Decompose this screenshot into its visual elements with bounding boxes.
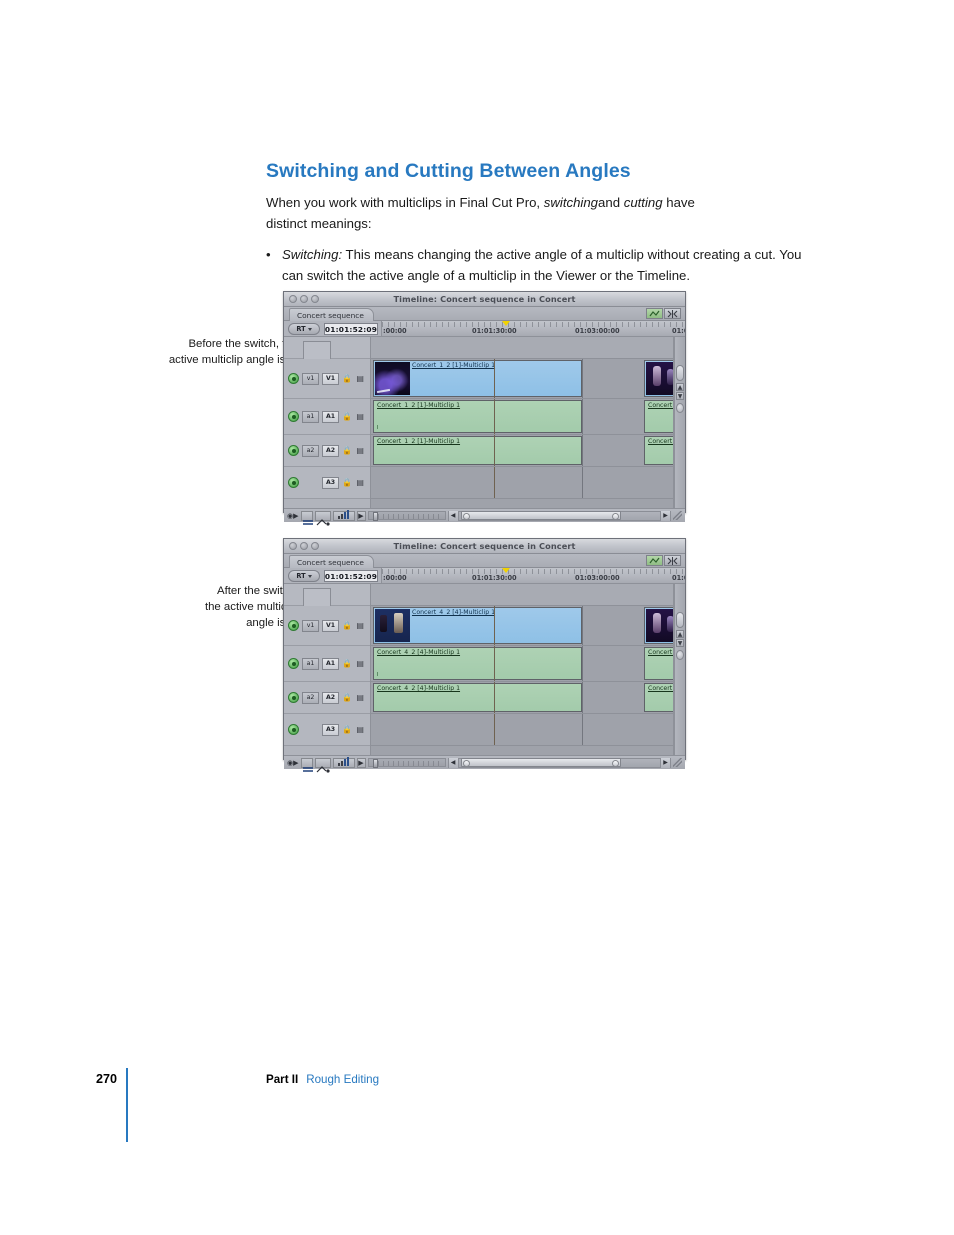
track-header-a1[interactable]: a1 A1 🔒 ▤ — [284, 646, 370, 682]
bullet-text: This means changing the active angle of … — [282, 247, 802, 283]
zoom-slider-ticks — [373, 514, 441, 519]
timeline-body: v1 V1 🔒 ▤ a1 A1 🔒 ▤ a2 A2 🔒 — [284, 584, 685, 755]
edit-point-line — [582, 714, 583, 745]
clip-label: Concert_1_2 [1]-Multiclip 1 — [377, 402, 460, 409]
scroll-right-icon[interactable]: ▶ — [660, 758, 670, 768]
bullet-term: Switching: — [282, 247, 342, 262]
dest-target-a1[interactable]: A1 — [322, 658, 339, 670]
clip-a1-multiclip[interactable]: Concert_4_2 [4]-Multiclip 1 — [373, 647, 582, 680]
track-canvas[interactable]: Concert_1_2 [1]-Multiclip 1 Concert_1_2 … — [371, 337, 674, 508]
clip-label: Concert_4_2 [4]-Multiclip 1 — [377, 685, 460, 692]
playhead-marker-icon[interactable] — [502, 321, 510, 326]
toggle-arrow-icon[interactable]: ▶ — [357, 511, 366, 521]
auto-select-icon-v1[interactable]: ▤ — [355, 373, 365, 384]
clip-thumbnail — [646, 609, 674, 642]
timeline-window-after[interactable]: Timeline: Concert sequence in Concert Co… — [283, 538, 686, 760]
ruler-label-2: 01:03:00:00 — [575, 574, 620, 582]
intro-paragraph: When you work with multiclips in Final C… — [266, 192, 814, 235]
playhead-line[interactable] — [494, 606, 495, 645]
auto-select-icon-a3[interactable]: ▤ — [355, 724, 365, 735]
auto-select-icon-a2[interactable]: ▤ — [355, 445, 365, 456]
playhead-line[interactable] — [494, 399, 495, 434]
rt-label: RT — [296, 572, 305, 580]
ruler-label-3: 01:0 — [672, 574, 685, 582]
scroll-down-icon[interactable]: ▼ — [676, 392, 684, 400]
track-enable-a3-icon[interactable] — [288, 477, 299, 488]
source-target-a2[interactable]: a2 — [302, 692, 319, 704]
hscroll-grip-right[interactable] — [612, 513, 619, 520]
clip-keyframes-icon[interactable] — [315, 758, 331, 768]
intro-text-c: have — [666, 195, 695, 210]
scroll-left-icon[interactable]: ◀ — [449, 758, 459, 768]
source-target-v1[interactable]: v1 — [302, 373, 319, 385]
track-header-a3[interactable]: A3 🔒 ▤ — [284, 467, 370, 499]
playhead-line[interactable] — [494, 682, 495, 713]
selection-outline — [303, 341, 331, 359]
zoom-slider[interactable] — [368, 758, 446, 767]
clip-label: Concert_4_2 [4]-Multiclip 1 — [377, 649, 460, 656]
clip-v1-next[interactable] — [644, 607, 674, 644]
lane-empty — [371, 499, 673, 508]
clip-label: Concert_1_2 [1]-Multiclip 1 — [377, 438, 460, 445]
source-target-a3[interactable] — [302, 724, 319, 736]
edit-point-line — [582, 359, 583, 398]
zoom-slider-knob[interactable] — [373, 512, 378, 521]
lane-a3[interactable] — [371, 467, 673, 499]
clip-a2-next[interactable]: Concert_1_... — [644, 436, 674, 465]
rt-popup-button[interactable]: RT — [288, 570, 320, 582]
clip-v1-multiclip[interactable]: Concert_1_2 [1]-Multiclip 1 — [373, 360, 582, 397]
sequence-tab-bar[interactable]: Concert sequence — [284, 554, 685, 568]
track-header-a2[interactable]: a2 A2 🔒 ▤ — [284, 435, 370, 467]
clip-label: Concert_1_... — [648, 685, 674, 692]
lane-empty — [371, 746, 673, 755]
hscroll-grip-right[interactable] — [612, 760, 619, 767]
ruler-ticks — [382, 322, 685, 327]
intro-text-b: and — [598, 195, 620, 210]
window-title: Timeline: Concert sequence in Concert — [284, 541, 685, 551]
chevron-down-icon — [308, 575, 312, 578]
edit-point-line — [582, 399, 583, 434]
hscroll-grip-left[interactable] — [463, 760, 470, 767]
lane-a1[interactable]: Concert_4_2 [4]-Multiclip 1 Concert_1_..… — [371, 646, 673, 682]
clip-keyframes-icon[interactable] — [315, 511, 331, 521]
resize-grip-icon[interactable] — [673, 758, 682, 767]
dest-target-a3[interactable]: A3 — [322, 477, 339, 489]
rt-label: RT — [296, 325, 305, 333]
lane-v1[interactable]: Concert_4_2 [4]-Multiclip 1 — [371, 606, 673, 646]
track-enable-v1-icon[interactable] — [288, 373, 299, 384]
playhead-line[interactable] — [494, 714, 495, 745]
track-header-a1[interactable]: a1 A1 🔒 ▤ — [284, 399, 370, 435]
clip-label: Concert_4_2 [4]-Multiclip 1 — [412, 609, 495, 616]
timeline-controls-row[interactable]: RT 01:01:52:09 :00:00 01:01:30:00 01:03:… — [284, 321, 685, 337]
playhead-marker-icon[interactable] — [502, 568, 510, 573]
lane-a1[interactable]: Concert_1_2 [1]-Multiclip 1 Concert_1_..… — [371, 399, 673, 435]
playhead-line[interactable] — [494, 467, 495, 498]
playhead-line[interactable] — [494, 646, 495, 681]
bullet-list: • Switching: This means changing the act… — [266, 244, 814, 287]
canvas-spacer — [371, 337, 673, 359]
page: Switching and Cutting Between Angles Whe… — [0, 0, 954, 1235]
current-timecode-field[interactable]: 01:01:52:09 — [324, 323, 378, 335]
audio-waveform-icon — [377, 672, 391, 676]
track-enable-a2-icon[interactable] — [288, 445, 299, 456]
timeline-body: v1 V1 🔒 ▤ a1 A1 🔒 ▤ a2 A2 🔒 — [284, 337, 685, 508]
intro-text-a: When you work with multiclips in Final C… — [266, 195, 540, 210]
lock-icon-v1[interactable]: 🔒 — [342, 620, 352, 631]
hscroll-thumb[interactable] — [461, 511, 621, 520]
scroll-left-icon[interactable]: ◀ — [449, 511, 459, 521]
timeline-controls-row[interactable]: RT 01:01:52:09 :00:00 01:01:30:00 01:03:… — [284, 568, 685, 584]
track-header-a2[interactable]: a2 A2 🔒 ▤ — [284, 682, 370, 714]
audio-waveform-icon — [377, 425, 391, 429]
linked-selection-icon[interactable] — [646, 308, 663, 319]
callout-before-line1: Before the switch, the — [188, 338, 298, 350]
dest-target-a2[interactable]: A2 — [322, 445, 339, 457]
zoom-slider[interactable] — [368, 511, 446, 520]
clip-a2-next[interactable]: Concert_1_... — [644, 683, 674, 712]
th-bar-1 — [338, 516, 340, 519]
audio-meter-icon[interactable]: ◉▶ — [287, 511, 299, 521]
clip-v1-multiclip[interactable]: Concert_4_2 [4]-Multiclip 1 — [373, 607, 582, 644]
clip-a1-multiclip[interactable]: Concert_1_2 [1]-Multiclip 1 — [373, 400, 582, 433]
horizontal-scrollbar[interactable]: ◀ ▶ — [448, 511, 672, 521]
timeline-toggle-buttons[interactable] — [646, 308, 681, 319]
list-item: • Switching: This means changing the act… — [266, 244, 814, 287]
clip-a1-next[interactable]: Concert_1_... — [644, 400, 674, 433]
dest-target-a2[interactable]: A2 — [322, 692, 339, 704]
window-titlebar[interactable]: Timeline: Concert sequence in Concert — [284, 539, 685, 554]
ruler-label-1: 01:01:30:00 — [472, 327, 517, 335]
source-target-v1[interactable]: v1 — [302, 620, 319, 632]
auto-select-icon-a1[interactable]: ▤ — [355, 411, 365, 422]
lane-a2[interactable]: Concert_1_2 [1]-Multiclip 1 Concert_1_..… — [371, 435, 673, 467]
clip-v1-next[interactable] — [644, 360, 674, 397]
timeline-toggle-buttons[interactable] — [646, 555, 681, 566]
vertical-scrollbar[interactable]: ▲ ▼ — [674, 337, 685, 508]
scroll-down-icon[interactable]: ▼ — [676, 639, 684, 647]
window-titlebar[interactable]: Timeline: Concert sequence in Concert — [284, 292, 685, 307]
tab-concert-sequence[interactable]: Concert sequence — [289, 308, 374, 321]
clip-thumbnail — [375, 362, 410, 395]
audio-meter-icon[interactable]: ◉▶ — [287, 758, 299, 768]
zoom-slider-knob[interactable] — [373, 759, 378, 768]
lock-icon-a1[interactable]: 🔒 — [342, 411, 352, 422]
track-header-v1[interactable]: v1 V1 🔒 ▤ — [284, 359, 370, 399]
bullet-dot-icon: • — [266, 244, 271, 265]
edit-point-line — [582, 435, 583, 466]
sequence-tab-bar[interactable]: Concert sequence — [284, 307, 685, 321]
track-enable-a1-icon[interactable] — [288, 411, 299, 422]
zoom-control-icon[interactable] — [676, 650, 684, 660]
track-enable-v1-icon[interactable] — [288, 620, 299, 631]
snapping-icon[interactable] — [664, 308, 681, 319]
callout-before-switch: Before the switch, the active multiclip … — [104, 336, 298, 368]
canvas-spacer — [371, 584, 673, 606]
timeline-ruler[interactable]: :00:00 01:01:30:00 01:03:00:00 01:0 — [381, 321, 685, 336]
clip-label: Concert_1_... — [648, 402, 674, 409]
rt-popup-button[interactable]: RT — [288, 323, 320, 335]
callout-before-line2: active multiclip angle is 1. — [169, 354, 298, 366]
track-header-spacer — [284, 337, 370, 359]
edit-point-line — [582, 606, 583, 645]
th-bar-4 — [347, 757, 349, 766]
th-bar-2 — [341, 514, 343, 519]
timeline-ruler[interactable]: :00:00 01:01:30:00 01:03:00:00 01:0 — [381, 568, 685, 583]
lock-icon-v1[interactable]: 🔒 — [342, 373, 352, 384]
scroll-right-icon[interactable]: ▶ — [660, 511, 670, 521]
th-bar-4 — [347, 510, 349, 519]
edit-point-line — [582, 646, 583, 681]
timeline-footer-toolbar[interactable]: ◉▶ ▶ ◀ — [284, 755, 685, 769]
playhead-line[interactable] — [494, 435, 495, 466]
edit-point-line — [582, 682, 583, 713]
auto-select-icon-a3[interactable]: ▤ — [355, 477, 365, 488]
intro-line-2: distinct meanings: — [266, 216, 372, 231]
footer-chapter: Rough Editing — [306, 1073, 379, 1086]
scroll-up-icon[interactable]: ▲ — [676, 630, 684, 638]
document-body: Switching and Cutting Between Angles Whe… — [266, 160, 814, 287]
lock-icon-a2[interactable]: 🔒 — [342, 445, 352, 456]
ruler-ticks — [382, 569, 685, 574]
track-header-column[interactable]: v1 V1 🔒 ▤ a1 A1 🔒 ▤ a2 A2 🔒 — [284, 584, 371, 755]
ruler-label-0: :00:00 — [383, 327, 407, 335]
th-bar-2 — [341, 761, 343, 766]
scroll-up-icon[interactable]: ▲ — [676, 383, 684, 391]
track-canvas[interactable]: Concert_4_2 [4]-Multiclip 1 Concert_4_2 … — [371, 584, 674, 755]
timeline-window-before[interactable]: Timeline: Concert sequence in Concert Co… — [283, 291, 686, 513]
horizontal-scrollbar[interactable]: ◀ ▶ — [448, 758, 672, 768]
intro-italic-cutting: cutting — [624, 195, 663, 210]
lane-a2[interactable]: Concert_4_2 [4]-Multiclip 1 Concert_1_..… — [371, 682, 673, 714]
auto-select-icon-v1[interactable]: ▤ — [355, 620, 365, 631]
footer-divider — [126, 1068, 128, 1142]
clip-overlays-icon[interactable] — [301, 511, 313, 521]
clip-overlays-icon[interactable] — [301, 758, 313, 768]
th-bar-3 — [344, 759, 346, 766]
toggle-arrow-icon[interactable]: ▶ — [357, 758, 366, 768]
clip-a2-multiclip[interactable]: Concert_1_2 [1]-Multiclip 1 — [373, 436, 582, 465]
linked-selection-icon[interactable] — [646, 555, 663, 566]
intro-italic-switching: switching — [544, 195, 598, 210]
lock-icon-a3[interactable]: 🔒 — [342, 724, 352, 735]
clip-a1-next[interactable]: Concert_1_... — [644, 647, 674, 680]
edit-point-line — [582, 467, 583, 498]
clip-label: Concert_1_... — [648, 438, 674, 445]
th-bar-3 — [344, 512, 346, 519]
ruler-label-3: 01:0 — [672, 327, 685, 335]
lock-icon-a2[interactable]: 🔒 — [342, 692, 352, 703]
chevron-down-icon — [308, 328, 312, 331]
dest-target-a3[interactable]: A3 — [322, 724, 339, 736]
callout-after-switch: After the switch, the active multiclip a… — [124, 583, 298, 632]
track-height-icon[interactable] — [333, 758, 355, 768]
window-title: Timeline: Concert sequence in Concert — [284, 294, 685, 304]
vscroll-thumb[interactable] — [676, 612, 684, 628]
source-target-a1[interactable]: a1 — [302, 658, 319, 670]
current-timecode-field[interactable]: 01:01:52:09 — [324, 570, 378, 582]
track-enable-a3-icon[interactable] — [288, 724, 299, 735]
dest-target-a1[interactable]: A1 — [322, 411, 339, 423]
clip-a2-multiclip[interactable]: Concert_4_2 [4]-Multiclip 1 — [373, 683, 582, 712]
track-header-v1[interactable]: v1 V1 🔒 ▤ — [284, 606, 370, 646]
clip-thumbnail — [646, 362, 674, 395]
track-enable-a1-icon[interactable] — [288, 658, 299, 669]
dest-target-v1[interactable]: V1 — [322, 620, 339, 632]
zoom-slider-ticks — [373, 761, 441, 766]
vscroll-thumb[interactable] — [676, 365, 684, 381]
auto-select-icon-a2[interactable]: ▤ — [355, 692, 365, 703]
track-enable-a2-icon[interactable] — [288, 692, 299, 703]
playhead-line[interactable] — [494, 359, 495, 398]
track-header-spacer — [284, 584, 370, 606]
ruler-label-0: :00:00 — [383, 574, 407, 582]
vertical-scrollbar[interactable]: ▲ ▼ — [674, 584, 685, 755]
lock-icon-a1[interactable]: 🔒 — [342, 658, 352, 669]
source-target-a1[interactable]: a1 — [302, 411, 319, 423]
dest-target-v1[interactable]: V1 — [322, 373, 339, 385]
th-bar-1 — [338, 763, 340, 766]
resize-grip-icon[interactable] — [673, 511, 682, 520]
ruler-label-2: 01:03:00:00 — [575, 327, 620, 335]
track-header-a3[interactable]: A3 🔒 ▤ — [284, 714, 370, 746]
clip-label: Concert_1_... — [648, 649, 674, 656]
tab-concert-sequence[interactable]: Concert sequence — [289, 555, 374, 568]
snapping-icon[interactable] — [664, 555, 681, 566]
clip-thumbnail — [375, 609, 410, 642]
track-height-icon[interactable] — [333, 511, 355, 521]
hscroll-thumb[interactable] — [461, 758, 621, 767]
footer-part: Part II — [266, 1073, 298, 1086]
lane-a3[interactable] — [371, 714, 673, 746]
lane-v1[interactable]: Concert_1_2 [1]-Multiclip 1 — [371, 359, 673, 399]
source-target-a3[interactable] — [302, 477, 319, 489]
track-header-column[interactable]: v1 V1 🔒 ▤ a1 A1 🔒 ▤ a2 A2 🔒 — [284, 337, 371, 508]
auto-select-icon-a1[interactable]: ▤ — [355, 658, 365, 669]
clip-label: Concert_1_2 [1]-Multiclip 1 — [412, 362, 495, 369]
ruler-label-1: 01:01:30:00 — [472, 574, 517, 582]
selection-outline — [303, 588, 331, 606]
zoom-control-icon[interactable] — [676, 403, 684, 413]
footer-breadcrumb: Part IIRough Editing — [266, 1073, 379, 1086]
lock-icon-a3[interactable]: 🔒 — [342, 477, 352, 488]
hscroll-grip-left[interactable] — [463, 513, 470, 520]
timeline-footer-toolbar[interactable]: ◉▶ ▶ ◀ — [284, 508, 685, 522]
source-target-a2[interactable]: a2 — [302, 445, 319, 457]
page-number: 270 — [96, 1072, 117, 1086]
page-title: Switching and Cutting Between Angles — [266, 160, 814, 183]
